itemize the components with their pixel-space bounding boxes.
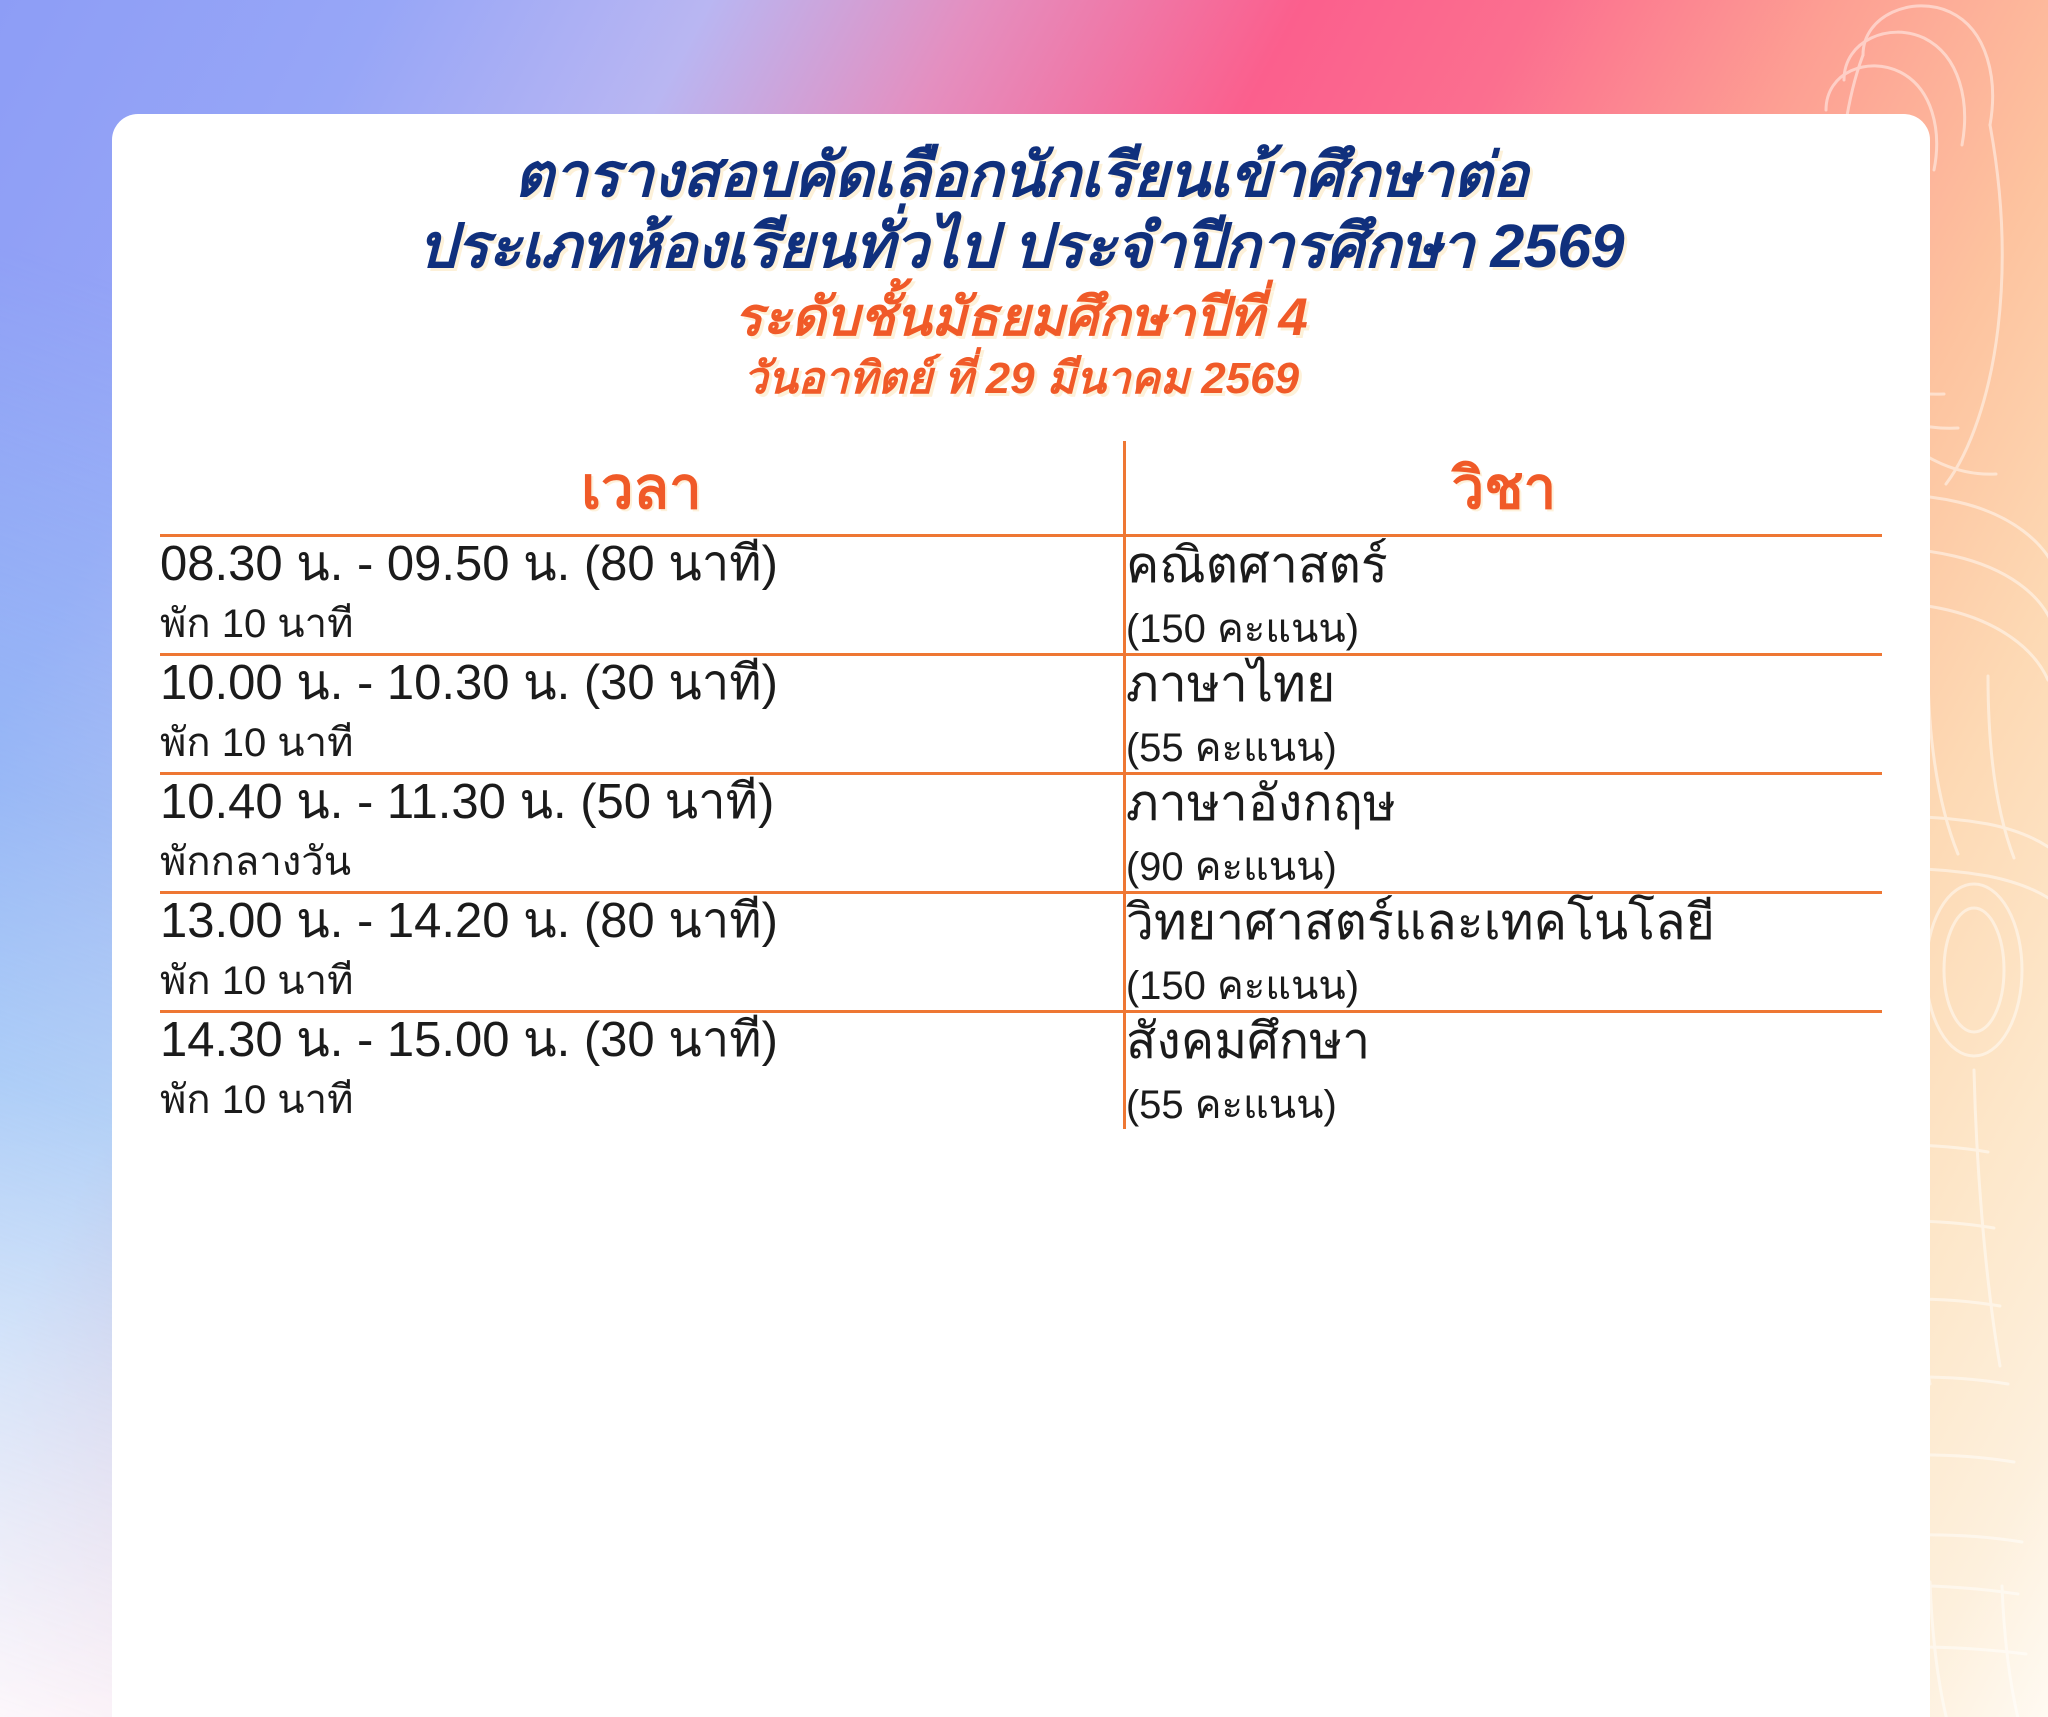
subject-name: ภาษาอังกฤษ <box>1126 775 1882 831</box>
subject-score: (55 คะแนน) <box>1126 1081 1882 1129</box>
page-title-line-1: ตารางสอบคัดเลือกนักเรียนเข้าศึกษาต่อ <box>160 140 1882 211</box>
page-subtitle-grade-level: ระดับชั้นมัธยมศึกษาปีที่ 4 <box>160 286 1882 351</box>
subject-name: สังคมศึกษา <box>1126 1013 1882 1069</box>
column-header-subject: วิชา <box>1124 441 1882 536</box>
cell-time: 08.30 น. - 09.50 น. (80 นาที) พัก 10 นาท… <box>160 535 1124 654</box>
table-row: 10.40 น. - 11.30 น. (50 นาที) พักกลางวัน… <box>160 773 1882 892</box>
table-header-row: เวลา วิชา <box>160 441 1882 536</box>
table-row: 13.00 น. - 14.20 น. (80 นาที) พัก 10 นาท… <box>160 892 1882 1011</box>
content-card: ตารางสอบคัดเลือกนักเรียนเข้าศึกษาต่อ ประ… <box>112 114 1930 1717</box>
page-title-line-2: ประเภทห้องเรียนทั่วไป ประจำปีการศึกษา 25… <box>160 211 1882 282</box>
time-break-note: พัก 10 นาที <box>160 719 1123 767</box>
exam-schedule-table: เวลา วิชา 08.30 น. - 09.50 น. (80 นาที) … <box>160 441 1882 1129</box>
time-break-note: พักกลางวัน <box>160 838 1123 886</box>
table-row: 14.30 น. - 15.00 น. (30 นาที) พัก 10 นาท… <box>160 1011 1882 1129</box>
subject-score: (150 คะแนน) <box>1126 962 1882 1010</box>
time-range: 10.00 น. - 10.30 น. (30 นาที) <box>160 656 1123 711</box>
page-title-block: ตารางสอบคัดเลือกนักเรียนเข้าศึกษาต่อ ประ… <box>160 140 1882 407</box>
subject-name: ภาษาไทย <box>1126 656 1882 712</box>
subject-name: คณิตศาสตร์ <box>1126 537 1882 593</box>
subject-score: (55 คะแนน) <box>1126 724 1882 772</box>
table-row: 10.00 น. - 10.30 น. (30 นาที) พัก 10 นาท… <box>160 654 1882 773</box>
table-body: 08.30 น. - 09.50 น. (80 นาที) พัก 10 นาท… <box>160 535 1882 1129</box>
subject-score: (150 คะแนน) <box>1126 605 1882 653</box>
time-break-note: พัก 10 นาที <box>160 957 1123 1005</box>
cell-subject: ภาษาอังกฤษ (90 คะแนน) <box>1124 773 1882 892</box>
subject-name: วิทยาศาสตร์และเทคโนโลยี <box>1126 894 1882 950</box>
time-break-note: พัก 10 นาที <box>160 1076 1123 1124</box>
time-range: 08.30 น. - 09.50 น. (80 นาที) <box>160 537 1123 592</box>
time-range: 10.40 น. - 11.30 น. (50 นาที) <box>160 775 1123 830</box>
time-range: 14.30 น. - 15.00 น. (30 นาที) <box>160 1013 1123 1068</box>
cell-time: 13.00 น. - 14.20 น. (80 นาที) พัก 10 นาท… <box>160 892 1124 1011</box>
cell-subject: สังคมศึกษา (55 คะแนน) <box>1124 1011 1882 1129</box>
cell-time: 14.30 น. - 15.00 น. (30 นาที) พัก 10 นาท… <box>160 1011 1124 1129</box>
column-header-time: เวลา <box>160 441 1124 536</box>
subject-score: (90 คะแนน) <box>1126 843 1882 891</box>
table-row: 08.30 น. - 09.50 น. (80 นาที) พัก 10 นาท… <box>160 535 1882 654</box>
cell-time: 10.00 น. - 10.30 น. (30 นาที) พัก 10 นาท… <box>160 654 1124 773</box>
cell-time: 10.40 น. - 11.30 น. (50 นาที) พักกลางวัน <box>160 773 1124 892</box>
cell-subject: คณิตศาสตร์ (150 คะแนน) <box>1124 535 1882 654</box>
page-exam-date: วันอาทิตย์ ที่ 29 มีนาคม 2569 <box>160 352 1882 407</box>
cell-subject: ภาษาไทย (55 คะแนน) <box>1124 654 1882 773</box>
time-range: 13.00 น. - 14.20 น. (80 นาที) <box>160 894 1123 949</box>
cell-subject: วิทยาศาสตร์และเทคโนโลยี (150 คะแนน) <box>1124 892 1882 1011</box>
time-break-note: พัก 10 นาที <box>160 600 1123 648</box>
